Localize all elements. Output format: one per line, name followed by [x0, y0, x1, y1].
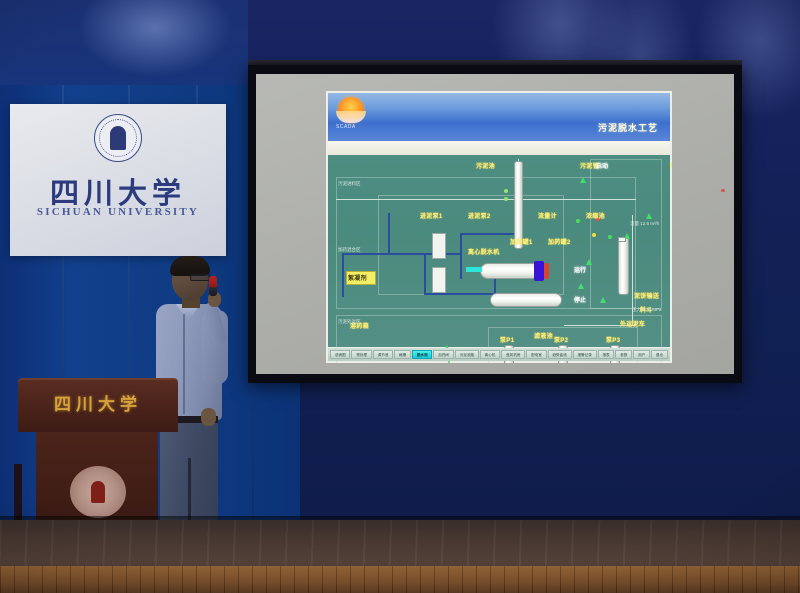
- equip-label: 外运泥车: [620, 319, 645, 328]
- wall-indicator-dot: [721, 189, 725, 192]
- equip-label: 污泥池: [476, 161, 495, 170]
- hmi-page-title: 污泥脱水工艺: [598, 121, 658, 134]
- presenter-hair: [170, 256, 210, 276]
- valve-icon[interactable]: [580, 177, 586, 183]
- motor-indicator: [544, 263, 549, 279]
- readout-text: 流量 12.5 m³/h: [630, 221, 659, 227]
- seal-emblem: [110, 126, 126, 150]
- status-lamp-icon: [504, 197, 508, 201]
- hmi-tab[interactable]: 污泥浓缩: [455, 350, 479, 359]
- hmi-tab[interactable]: 配电室: [526, 350, 546, 359]
- status-label: 启动: [596, 161, 608, 170]
- equip-label: 浓缩池: [586, 211, 605, 220]
- hmi-tab[interactable]: 预处理: [351, 350, 371, 359]
- hmi-tab[interactable]: 总貌图: [330, 350, 350, 359]
- equip-label: 进泥泵2: [468, 211, 491, 220]
- hmi-header-bar: SCADA 污泥脱水工艺: [328, 93, 670, 141]
- hmi-process-diagram: 污泥池 进泥泵1 进泥泵2 流量计 污泥管 浓缩池 加药罐1 加药罐2 絮凝剂 …: [328, 155, 670, 347]
- valve-icon[interactable]: [646, 213, 652, 219]
- university-banner: 四川大学 SICHUAN UNIVERSITY: [10, 104, 226, 256]
- equip-label: 泵P2: [554, 335, 568, 344]
- centrifuge-motor: [534, 261, 544, 281]
- presenter-placket: [183, 314, 185, 414]
- valve-icon[interactable]: [586, 259, 592, 265]
- equip-label: 泵P3: [606, 335, 620, 344]
- run-lamp-icon: [576, 219, 580, 223]
- glasses-icon: [190, 274, 210, 281]
- hmi-tab[interactable]: 趋势曲线: [548, 350, 572, 359]
- equip-label: 加药罐2: [548, 237, 571, 246]
- dosing-tank-2: [432, 267, 446, 293]
- hmi-tab[interactable]: 报表: [598, 350, 615, 359]
- screen-surface: SCADA 污泥脱水工艺: [256, 74, 734, 374]
- crest-emblem: [91, 481, 105, 503]
- lectern-top: 四川大学: [18, 378, 178, 432]
- dosing-tank-1: [432, 233, 446, 259]
- equip-label: 滤液池: [534, 331, 553, 340]
- equip-label: 絮凝剂: [348, 273, 367, 282]
- hmi-tab[interactable]: 用户: [633, 350, 650, 359]
- hmi-tab[interactable]: 调节池: [373, 350, 393, 359]
- status-label: 停止: [574, 295, 586, 304]
- inlet-chip: [466, 267, 482, 272]
- sludge-silo: [618, 237, 629, 295]
- stage-front-edge: [0, 566, 800, 593]
- equip-label: 离心脱水机: [468, 247, 500, 256]
- equip-label: 泥饼输送: [634, 291, 659, 300]
- equip-label: 泵P1: [500, 335, 514, 344]
- hmi-tab-strip[interactable]: 总貌图 预处理 调节池 格栅 脱水间 加药间 污泥浓缩 离心机 鼓风机房 配电室…: [328, 348, 670, 361]
- group-title: 加药混合区: [338, 247, 361, 253]
- status-label: 运行: [574, 265, 586, 274]
- lecture-hall-scene: 四川大学 SICHUAN UNIVERSITY SCADA 污泥脱水工艺: [0, 0, 800, 593]
- valve-icon[interactable]: [600, 297, 606, 303]
- hmi-tab-active[interactable]: 脱水间: [412, 350, 432, 359]
- hmi-tab[interactable]: 报警记录: [573, 350, 597, 359]
- hmi-tab[interactable]: 退出: [651, 350, 668, 359]
- equip-label: 加药罐1: [510, 237, 533, 246]
- banner-en-name: SICHUAN UNIVERSITY: [10, 206, 226, 218]
- equip-label: 进泥泵1: [420, 211, 443, 220]
- projected-hmi-app: SCADA 污泥脱水工艺: [326, 91, 672, 363]
- hmi-tab[interactable]: 参数: [615, 350, 632, 359]
- conveyor-unit: [490, 293, 562, 307]
- lectern-cn-name: 四川大学: [18, 390, 178, 415]
- hmi-tab[interactable]: 加药间: [433, 350, 453, 359]
- valve-icon[interactable]: [578, 283, 584, 289]
- hmi-tab[interactable]: 离心机: [480, 350, 500, 359]
- readout-text: 压力 0.32 MPa: [632, 307, 662, 313]
- equip-label: 流量计: [538, 211, 557, 220]
- readout-chip: [618, 237, 626, 242]
- hmi-logo-text: SCADA: [336, 124, 356, 130]
- group-title: 污泥进料区: [338, 181, 361, 187]
- university-seal-icon: [94, 114, 142, 162]
- microphone-icon: [209, 276, 217, 296]
- group-title: 污泥外运区: [338, 319, 361, 325]
- hmi-sub-bar: [328, 141, 670, 155]
- university-crest-icon: [70, 466, 126, 518]
- logo-arc-icon: [336, 111, 366, 123]
- warn-lamp-icon: [592, 233, 596, 237]
- projection-screen: SCADA 污泥脱水工艺: [248, 65, 742, 383]
- hmi-tab[interactable]: 鼓风机房: [501, 350, 525, 359]
- hmi-tab[interactable]: 格栅: [394, 350, 411, 359]
- equip-label: 储泥仓: [670, 161, 672, 170]
- status-lamp-icon: [504, 189, 508, 193]
- stack-column: [514, 161, 523, 249]
- standby-lamp-icon: [608, 235, 612, 239]
- presenter-hand-lower: [201, 408, 216, 426]
